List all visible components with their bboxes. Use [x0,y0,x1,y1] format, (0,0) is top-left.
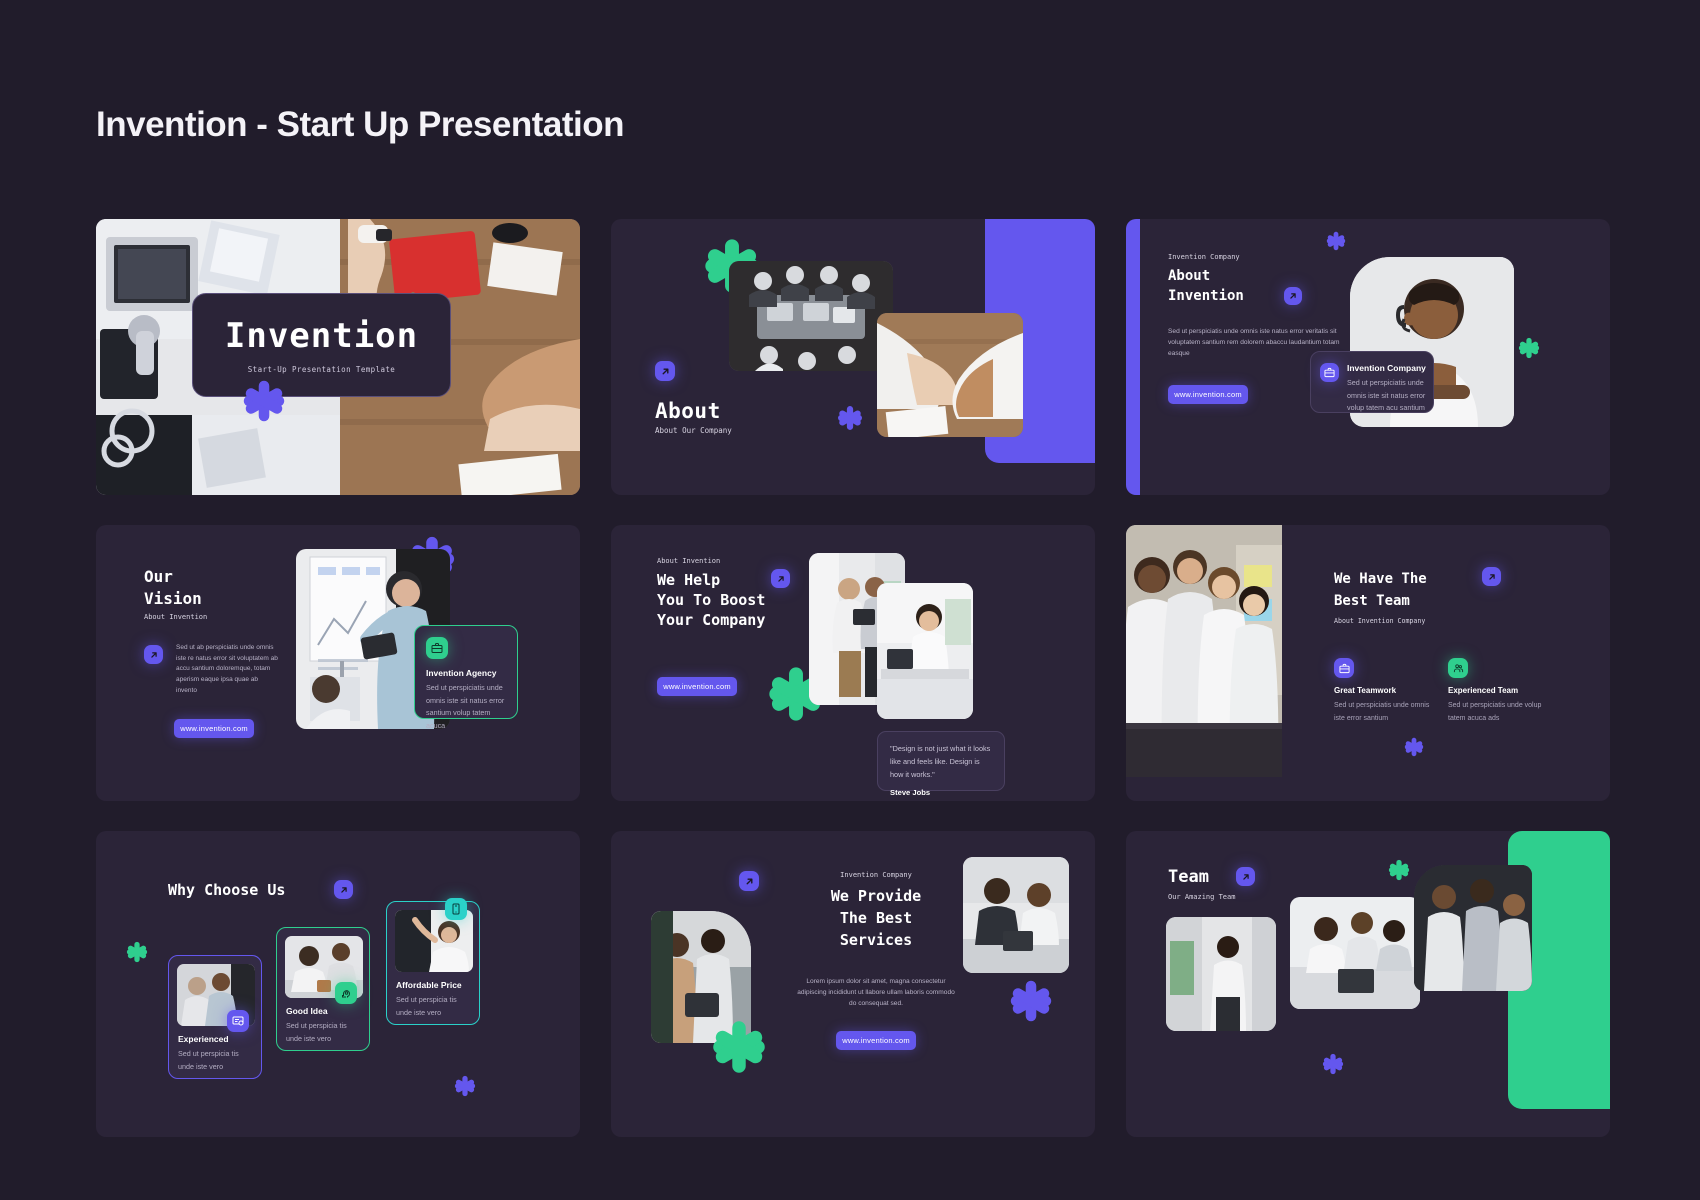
about-subtitle: About Our Company [655,426,732,435]
card-title: Good Idea [286,1006,328,1016]
cover-subtitle: Start-Up Presentation Template [248,365,395,374]
slides-grid: Invention Start-Up Presentation Template [96,219,1606,1137]
services-photo-right [963,857,1069,973]
about-title: About [655,399,721,423]
help-title-line3: Your Company [657,611,765,629]
team-title: Team [1168,867,1209,887]
best-team-eyebrow: About Invention Company [1334,617,1425,625]
page-title: Invention - Start Up Presentation [96,105,624,145]
purple-star-decoration [1326,231,1346,251]
about-invention-info-card[interactable]: Invention Company Sed ut perspiciatis un… [1310,351,1434,413]
services-eyebrow: Invention Company [791,871,961,879]
about-arrow-button[interactable] [655,361,675,381]
help-eyebrow: About Invention [657,557,720,565]
services-title-line2: The Best [791,909,961,927]
card-title: Experienced [178,1034,229,1044]
card-body: Sed ut perspiciatis unde omnis iste sit … [426,682,508,732]
card-body: Sed ut perspicia tis unde iste vero [286,1020,352,1045]
why-choose-arrow-button[interactable] [334,880,353,899]
purple-star-decoration [1404,737,1424,757]
quote-text: "Design is not just what it looks like a… [890,742,992,781]
help-website-button[interactable]: www.invention.com [657,677,737,696]
green-star-decoration [1388,859,1410,881]
about-invention-title-line1: About [1168,268,1210,284]
help-title-line2: You To Boost [657,591,765,609]
chart-card-icon [227,1010,249,1032]
green-star-decoration [1518,337,1540,359]
purple-star-decoration [454,1075,476,1097]
team-subtitle: Our Amazing Team [1168,893,1235,901]
vision-agency-card[interactable]: Invention Agency Sed ut perspiciatis und… [414,625,518,719]
team-arrow-button[interactable] [1236,867,1255,886]
why-card-2[interactable]: Affordable Price Sed ut perspicia tis un… [386,901,480,1025]
services-website-button[interactable]: www.invention.com [836,1031,916,1050]
cover-title: Invention [225,316,418,356]
card-body: Sed ut perspicia tis unde iste vero [178,1048,244,1073]
card-body: Sed ut perspiciatis unde omnis iste sit … [1347,377,1427,415]
help-title-line1: We Help [657,571,720,589]
team-photo-2 [1414,865,1532,991]
purple-star-decoration [1009,979,1053,1023]
team-group-photo [1126,525,1282,777]
feature-body-1: Sed ut perspiciatis unde volup tatem acu… [1448,700,1548,725]
feature-body-0: Sed ut perspiciatis unde omnis iste erro… [1334,700,1434,725]
briefcase-icon [1320,363,1339,382]
slide-cover[interactable]: Invention Start-Up Presentation Template [96,219,580,495]
briefcase-icon [1334,658,1354,678]
vision-title-line2: Vision [144,589,202,608]
about-photo-hands [877,313,1023,437]
quote-author: Steve Jobs [890,788,992,797]
card-body: Sed ut perspicia tis unde iste vero [396,994,462,1019]
help-photo-desk [877,583,973,719]
slide-best-services[interactable]: Invention Company We Provide The Best Se… [611,831,1095,1137]
services-title-line1: We Provide [791,887,961,905]
team-photo-0 [1166,917,1276,1031]
vision-body: Sed ut ab perspiciatis unde omnis iste r… [176,643,280,697]
help-quote-card: "Design is not just what it looks like a… [877,731,1005,791]
left-purple-bar [1126,219,1140,495]
about-photo-meeting [729,261,893,371]
head-idea-icon [335,982,357,1004]
cover-title-box: Invention Start-Up Presentation Template [192,293,451,397]
team-photo-1 [1290,897,1420,1009]
vision-title-line1: Our [144,567,173,586]
slide-our-vision[interactable]: Our Vision About Invention Sed ut ab per… [96,525,580,801]
why-choose-title: Why Choose Us [168,881,285,899]
slide-about-invention[interactable]: Invention Company About Invention Sed ut… [1126,219,1610,495]
mobile-pay-icon [445,898,467,920]
card-title: Invention Agency [426,668,497,678]
services-body: Lorem ipsum dolor sit amet, magna consec… [797,977,955,1010]
feature-title-0: Great Teamwork [1334,686,1396,695]
why-card-0[interactable]: Experienced Sed ut perspicia tis unde is… [168,955,262,1079]
about-invention-website-button[interactable]: www.invention.com [1168,385,1248,404]
green-star-decoration [711,1019,767,1075]
about-invention-eyebrow: Invention Company [1168,253,1240,261]
help-arrow-button[interactable] [771,569,790,588]
card-title: Invention Company [1347,363,1426,373]
slide-best-team[interactable]: We Have The Best Team About Invention Co… [1126,525,1610,801]
vision-website-button[interactable]: www.invention.com [174,719,254,738]
vision-eyebrow: About Invention [144,613,207,621]
why-card-1[interactable]: Good Idea Sed ut perspicia tis unde iste… [276,927,370,1051]
card-title: Affordable Price [396,980,462,990]
purple-star-decoration [1322,1053,1344,1075]
slide-team[interactable]: Team Our Amazing Team [1126,831,1610,1137]
slide-we-help-you[interactable]: About Invention We Help You To Boost You… [611,525,1095,801]
purple-star-decoration [837,405,863,431]
feature-title-1: Experienced Team [1448,686,1518,695]
about-invention-title-line2: Invention [1168,288,1244,304]
about-invention-arrow-button[interactable] [1284,287,1302,305]
services-arrow-button[interactable] [739,871,759,891]
best-team-arrow-button[interactable] [1482,567,1501,586]
slide-about[interactable]: About About Our Company [611,219,1095,495]
briefcase-icon [426,637,448,659]
services-title-line3: Services [791,931,961,949]
vision-arrow-button[interactable] [144,645,163,664]
purple-star-decoration [242,379,286,423]
slide-why-choose-us[interactable]: Why Choose Us Experienced Sed ut perspic… [96,831,580,1137]
green-star-decoration [126,941,148,963]
people-icon [1448,658,1468,678]
best-team-title-line2: Best Team [1334,593,1410,609]
best-team-title-line1: We Have The [1334,571,1427,587]
